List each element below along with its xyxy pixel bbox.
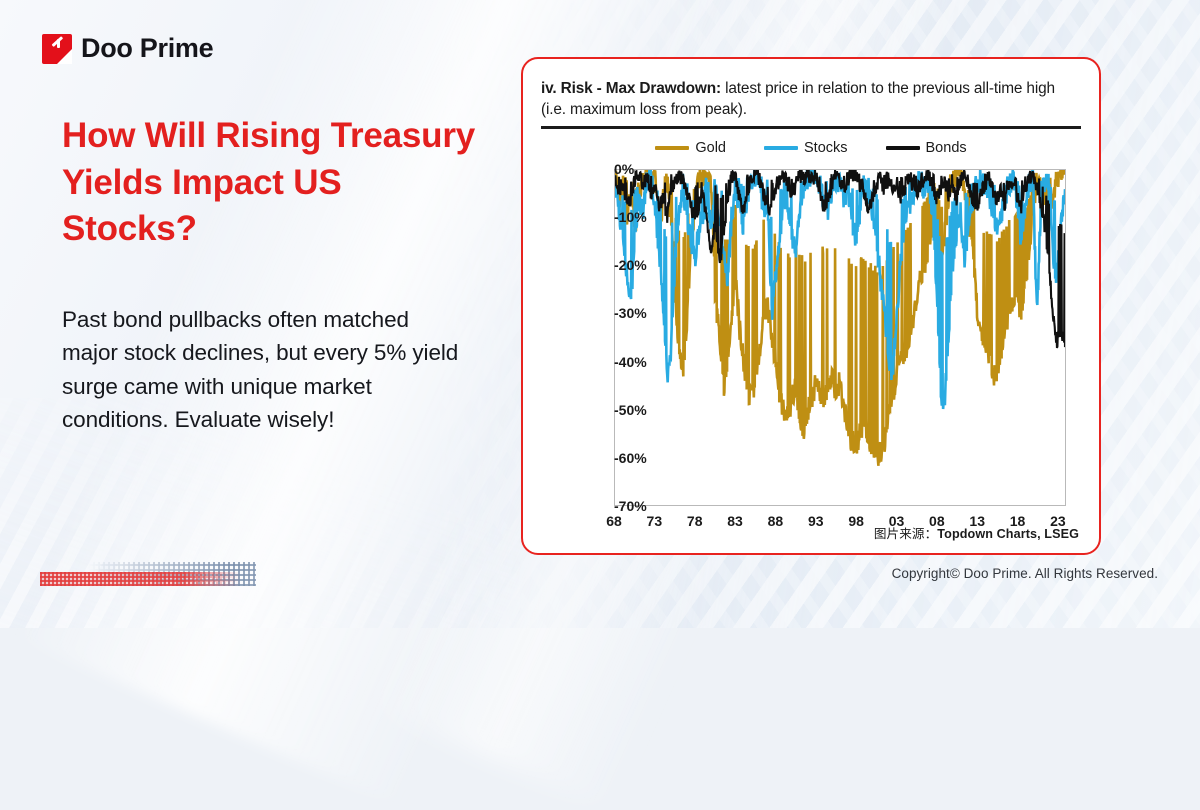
x-axis-tick-label: 88 (768, 513, 784, 529)
chart-source-label: 图片来源： (874, 527, 937, 541)
plot-box (614, 169, 1066, 506)
x-axis-tick-label: 93 (808, 513, 824, 529)
doo-prime-logo-icon (42, 34, 72, 64)
legend-item-gold: Gold (655, 140, 726, 156)
legend-item-stocks: Stocks (764, 140, 848, 156)
legend-swatch-icon (886, 146, 920, 150)
decorative-dots-red (40, 572, 240, 586)
legend-label: Bonds (926, 140, 967, 156)
chart-title: iv. Risk - Max Drawdown: latest price in… (541, 79, 1081, 121)
chart-lines (615, 170, 1065, 505)
plot-area-wrapper: 0%-10%-20%-30%-40%-50%-60%-70%6873788388… (541, 159, 1087, 559)
page-title: How Will Rising Treasury Yields Impact U… (62, 113, 482, 253)
legend-label: Stocks (804, 140, 848, 156)
chart-source: 图片来源：Topdown Charts, LSEG (874, 523, 1079, 542)
decorative-dot-bar (36, 558, 256, 592)
chart-title-bold: iv. Risk - Max Drawdown: (541, 80, 721, 97)
page-subcopy: Past bond pullbacks often matched major … (62, 303, 462, 436)
series-line-gold (615, 170, 1065, 466)
chart-legend: GoldStocksBonds (541, 140, 1081, 156)
chart-source-value: Topdown Charts, LSEG (937, 527, 1079, 541)
title-divider (541, 126, 1081, 129)
chart-card: iv. Risk - Max Drawdown: latest price in… (521, 57, 1101, 555)
legend-swatch-icon (655, 146, 689, 150)
copyright-notice: Copyright© Doo Prime. All Rights Reserve… (892, 566, 1158, 581)
x-axis-tick-label: 73 (647, 513, 663, 529)
legend-swatch-icon (764, 146, 798, 150)
x-axis-tick-label: 68 (606, 513, 622, 529)
brand-name: Doo Prime (81, 33, 213, 64)
x-axis-tick-label: 78 (687, 513, 703, 529)
brand-logo: Doo Prime (42, 33, 213, 64)
x-axis-tick-label: 98 (848, 513, 864, 529)
legend-item-bonds: Bonds (886, 140, 967, 156)
x-axis-tick-label: 83 (727, 513, 743, 529)
legend-label: Gold (695, 140, 726, 156)
